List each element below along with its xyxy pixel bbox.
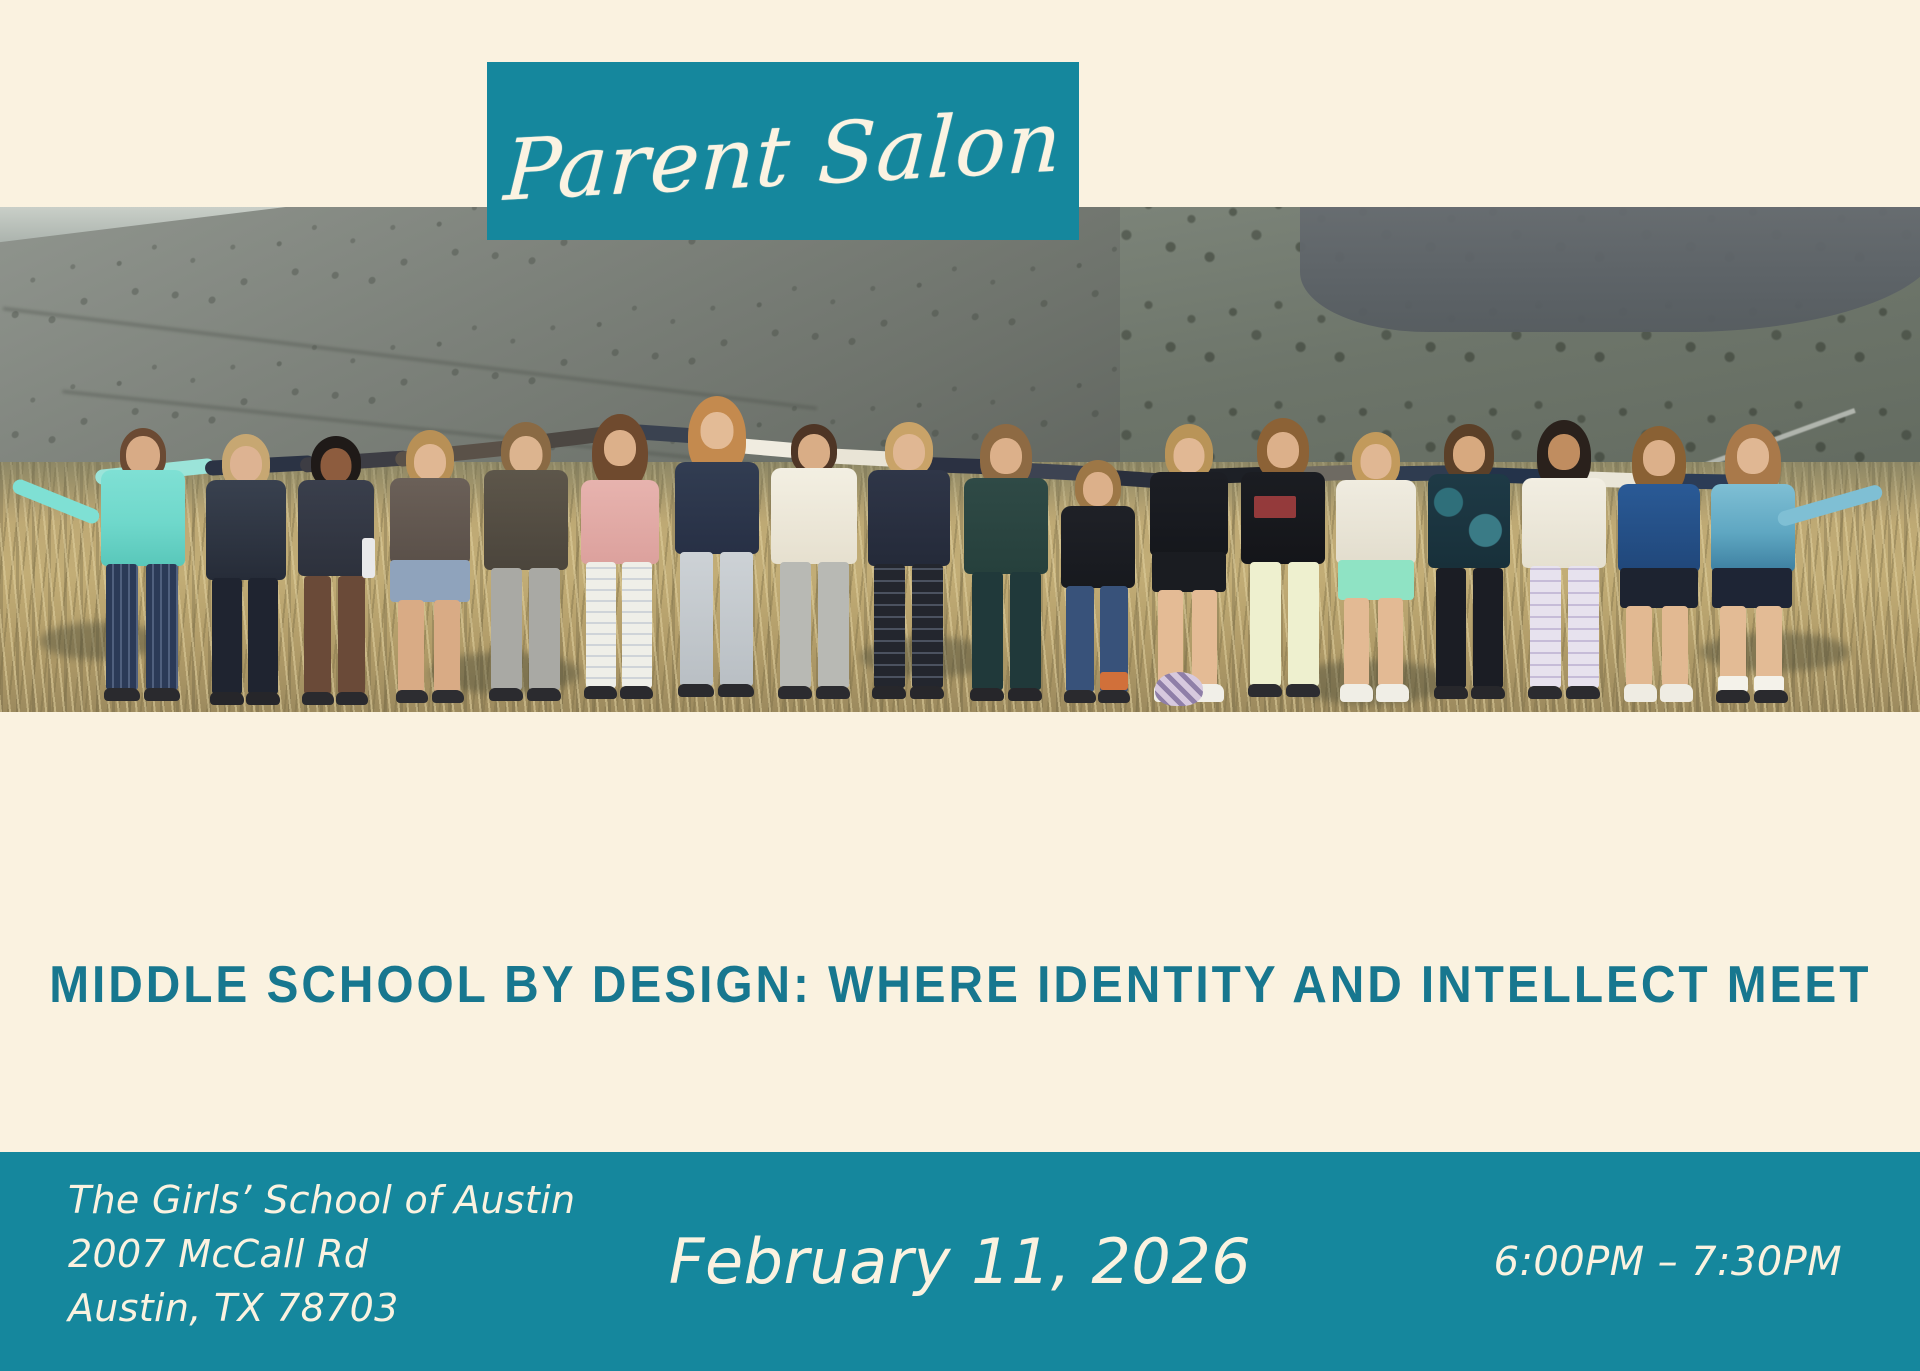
distant-mesa bbox=[1300, 207, 1920, 332]
student bbox=[288, 434, 384, 712]
student bbox=[1326, 428, 1426, 712]
student bbox=[1052, 456, 1144, 712]
student bbox=[380, 428, 480, 712]
student bbox=[474, 422, 578, 712]
student bbox=[1418, 422, 1520, 712]
mint-shorts bbox=[1338, 560, 1414, 600]
water-bottle bbox=[362, 538, 375, 578]
title-badge: Parent Salon bbox=[487, 62, 1079, 240]
shorts bbox=[1712, 568, 1792, 608]
page-title: Middle School by Design: Where Identity … bbox=[49, 955, 1871, 1015]
address-line-school: The Girls’ School of Austin bbox=[68, 1174, 575, 1228]
hoodie-graphic bbox=[1254, 496, 1296, 518]
student bbox=[664, 406, 770, 712]
backpack-on-ground bbox=[1155, 672, 1203, 706]
shorts bbox=[1620, 568, 1698, 608]
student bbox=[858, 420, 960, 712]
title-text: Parent Salon bbox=[502, 99, 1064, 213]
denim-shorts bbox=[390, 560, 470, 602]
event-time: 6:00PM – 7:30PM bbox=[1494, 1152, 1842, 1371]
hero-photo bbox=[0, 207, 1920, 712]
student bbox=[954, 424, 1058, 712]
footer-bar: The Girls’ School of Austin 2007 McCall … bbox=[0, 1152, 1920, 1371]
address-line-street: 2007 McCall Rd bbox=[68, 1228, 575, 1282]
event-flyer: Parent Salon Middle School by Design: Wh… bbox=[0, 0, 1920, 1371]
venue-address: The Girls’ School of Austin 2007 McCall … bbox=[68, 1174, 575, 1336]
headline-section: Middle School by Design: Where Identity … bbox=[0, 712, 1920, 1152]
student bbox=[88, 422, 198, 712]
shorts bbox=[1152, 552, 1226, 592]
student bbox=[1608, 426, 1710, 712]
group-of-students bbox=[0, 382, 1920, 712]
student bbox=[1232, 418, 1334, 712]
student bbox=[762, 418, 866, 712]
student bbox=[1140, 422, 1238, 712]
orange-sock bbox=[1100, 672, 1128, 690]
outstretched-arm bbox=[11, 477, 102, 525]
student bbox=[1700, 424, 1806, 712]
student bbox=[196, 430, 296, 712]
address-line-city: Austin, TX 78703 bbox=[68, 1282, 575, 1336]
student bbox=[570, 418, 670, 712]
student bbox=[1512, 420, 1616, 712]
